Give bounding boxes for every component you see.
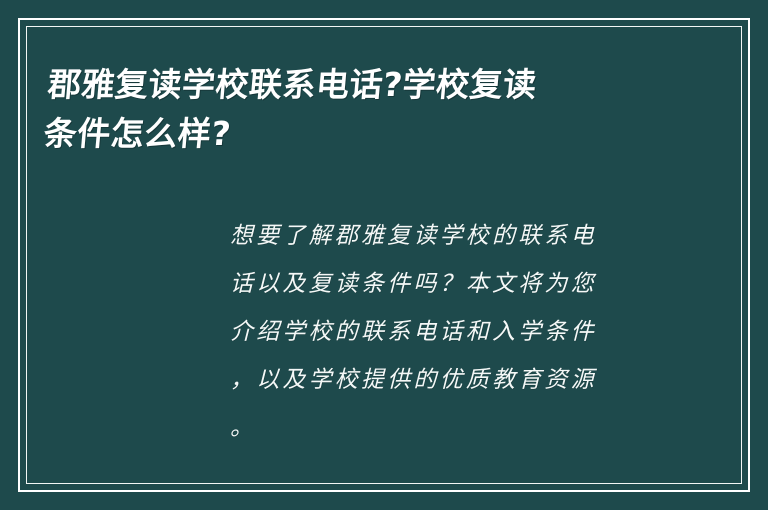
body-paragraph-line-2: 话以及复读条件吗？本文将为您 (230, 260, 648, 308)
body-paragraph-line-4: ，以及学校提供的优质教育资源 (230, 356, 648, 404)
page-title-line-2: 条件怎么样? (42, 109, 706, 158)
page-title: 郡雅复读学校联系电话?学校复读 条件怎么样? (42, 60, 711, 158)
page-title-line-1: 郡雅复读学校联系电话?学校复读 (46, 60, 710, 109)
body-paragraph-line-1: 想要了解郡雅复读学校的联系电 (230, 212, 648, 260)
body-paragraph-line-5: 。 (230, 404, 648, 452)
body-paragraph: 想要了解郡雅复读学校的联系电 话以及复读条件吗？本文将为您 介绍学校的联系电话和… (230, 212, 648, 452)
body-paragraph-line-3: 介绍学校的联系电话和入学条件 (230, 308, 648, 356)
poster-canvas: 郡雅复读学校联系电话?学校复读 条件怎么样? 想要了解郡雅复读学校的联系电 话以… (0, 0, 768, 510)
